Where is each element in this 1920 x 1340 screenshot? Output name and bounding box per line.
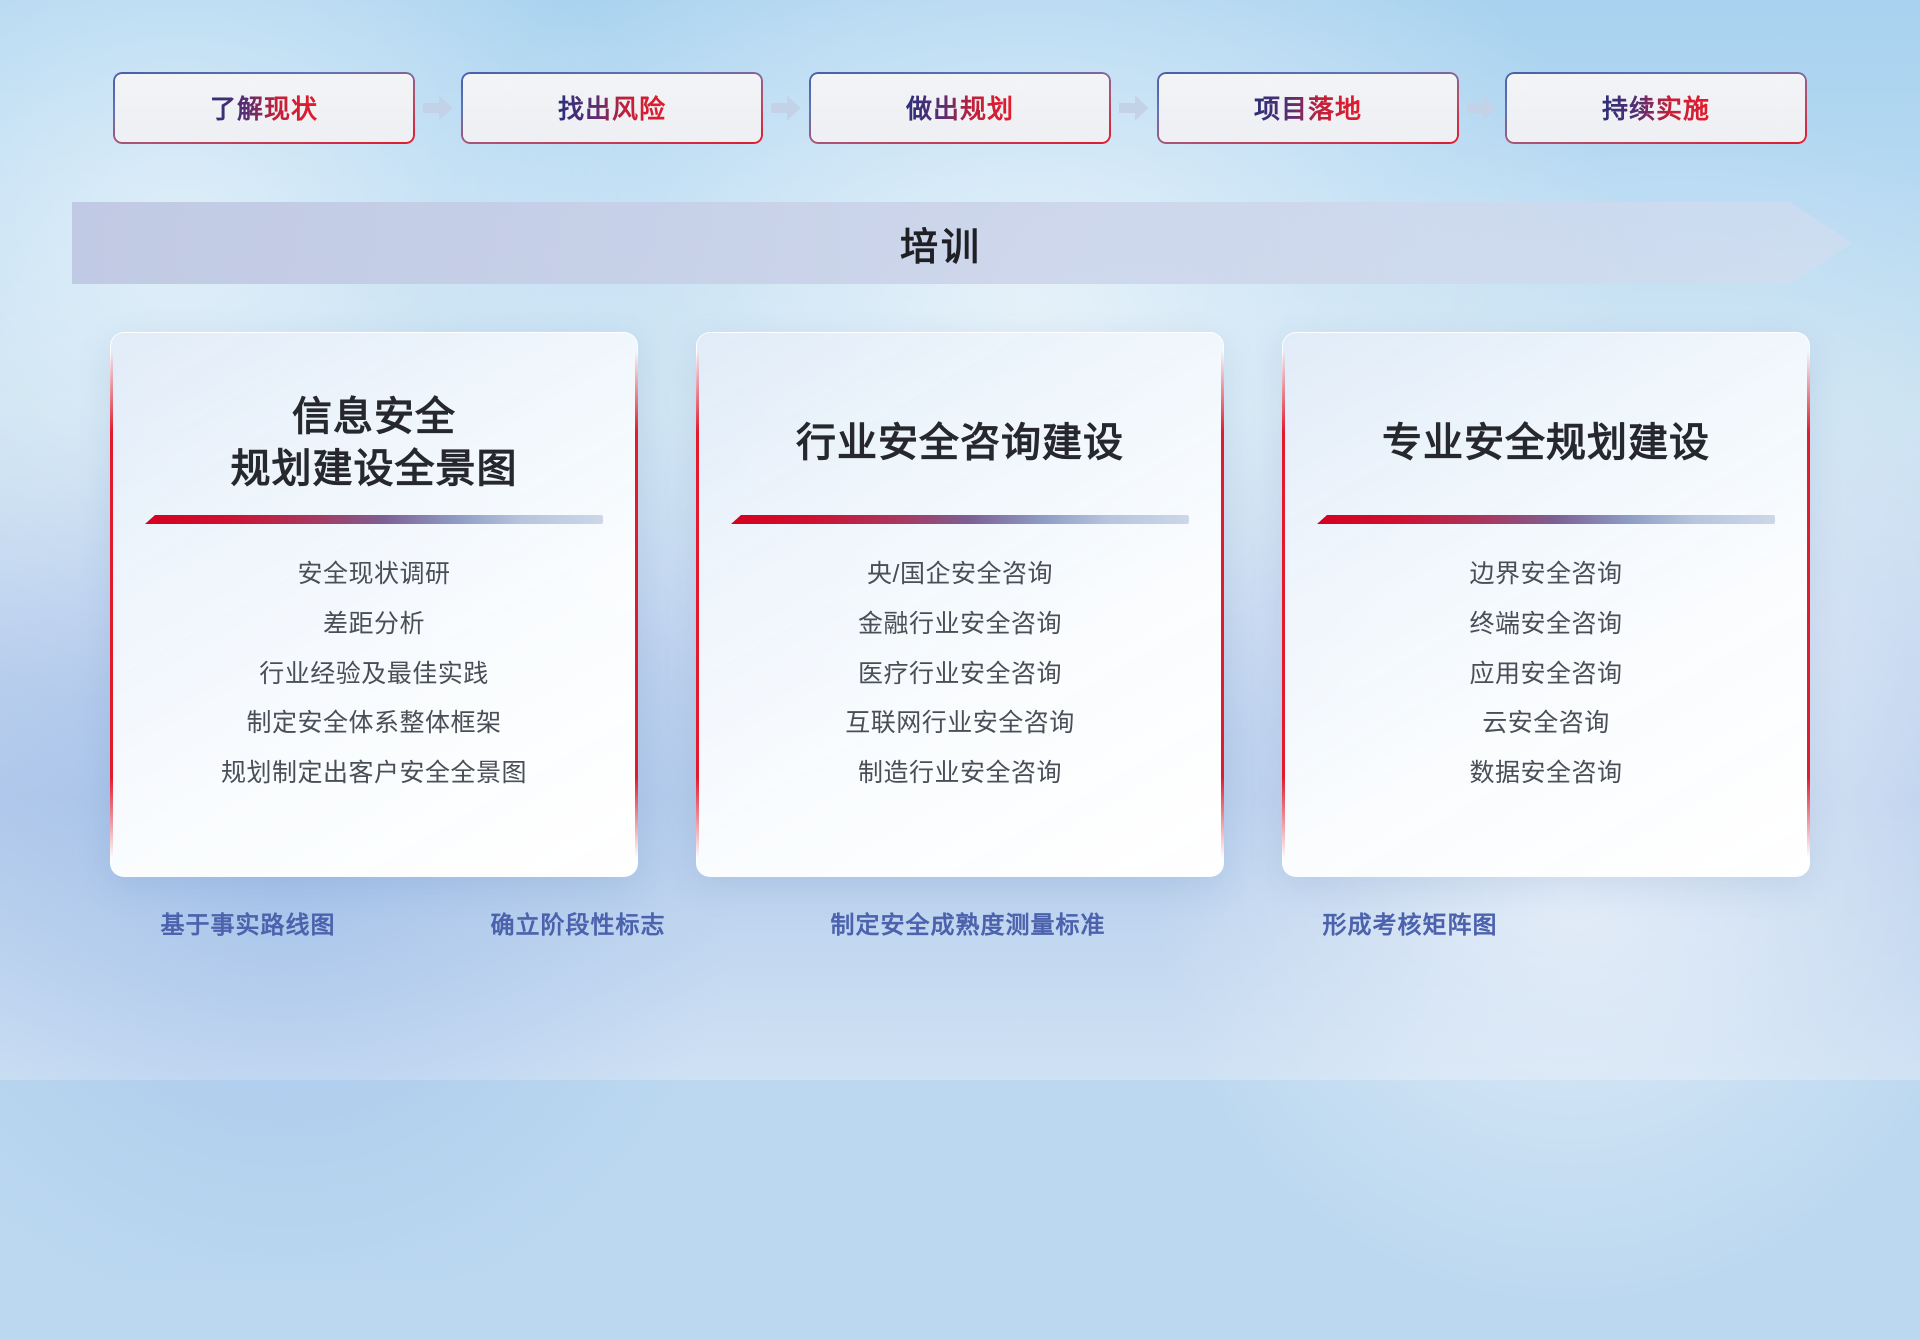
card-list-item[interactable]: 金融行业安全咨询 [858, 608, 1062, 642]
card-accent-left [110, 351, 113, 858]
step-arrow-icon [1459, 72, 1505, 144]
card-accent-right [635, 351, 638, 858]
card-list-item[interactable]: 差距分析 [323, 608, 425, 642]
card-list-item[interactable]: 云安全咨询 [1482, 707, 1610, 741]
footer-label-2: 确立阶段性标志 [491, 905, 666, 940]
process-step-label: 找出风险 [558, 89, 666, 126]
card-divider [145, 515, 603, 524]
card-item-list: 央/国企安全咨询金融行业安全咨询医疗行业安全咨询互联网行业安全咨询制造行业安全咨… [731, 558, 1189, 791]
card-title: 行业安全咨询建设 [731, 389, 1189, 497]
footer-label-3: 制定安全成熟度测量标准 [831, 905, 1106, 940]
training-banner: 培训 [72, 202, 1852, 284]
step-arrow-icon [1111, 72, 1157, 144]
card-title: 信息安全规划建设全景图 [145, 389, 603, 497]
card-list-item[interactable]: 数据安全咨询 [1469, 757, 1622, 791]
card-list-item[interactable]: 央/国企安全咨询 [867, 558, 1053, 592]
step-arrow-icon [763, 72, 809, 144]
card-list-item[interactable]: 制造行业安全咨询 [858, 757, 1062, 791]
card-list-item[interactable]: 医疗行业安全咨询 [858, 658, 1062, 692]
card-list-item[interactable]: 应用安全咨询 [1469, 658, 1622, 692]
process-step-label: 做出规划 [906, 89, 1014, 126]
card-list-item[interactable]: 规划制定出客户安全全景图 [221, 757, 527, 791]
card-list-item[interactable]: 制定安全体系整体框架 [246, 707, 501, 741]
card-title-line: 行业安全咨询建设 [731, 417, 1189, 469]
service-card-1[interactable]: 信息安全规划建设全景图安全现状调研差距分析行业经验及最佳实践制定安全体系整体框架… [110, 332, 638, 877]
process-step-label: 项目落地 [1254, 89, 1362, 126]
card-list-item[interactable]: 终端安全咨询 [1469, 608, 1622, 642]
process-step-row: 了解现状找出风险做出规划项目落地持续实施 [0, 70, 1920, 145]
footer-label-4: 形成考核矩阵图 [1323, 905, 1498, 940]
card-accent-left [696, 351, 699, 858]
card-accent-right [1807, 351, 1810, 858]
process-step-5[interactable]: 持续实施 [1505, 72, 1807, 144]
card-divider [731, 515, 1189, 524]
card-title-line: 规划建设全景图 [145, 443, 603, 495]
card-list-item[interactable]: 互联网行业安全咨询 [845, 707, 1075, 741]
card-list-item[interactable]: 行业经验及最佳实践 [259, 658, 489, 692]
process-step-4[interactable]: 项目落地 [1157, 72, 1459, 144]
training-banner-label: 培训 [72, 202, 1852, 284]
card-accent-right [1221, 351, 1224, 858]
process-step-2[interactable]: 找出风险 [461, 72, 763, 144]
process-step-3[interactable]: 做出规划 [809, 72, 1111, 144]
card-title-line: 专业安全规划建设 [1317, 417, 1775, 469]
process-step-label: 持续实施 [1602, 89, 1710, 126]
process-step-1[interactable]: 了解现状 [113, 72, 415, 144]
service-card-row: 信息安全规划建设全景图安全现状调研差距分析行业经验及最佳实践制定安全体系整体框架… [0, 332, 1920, 872]
service-card-3[interactable]: 专业安全规划建设边界安全咨询终端安全咨询应用安全咨询云安全咨询数据安全咨询 [1282, 332, 1810, 877]
card-list-item[interactable]: 边界安全咨询 [1469, 558, 1622, 592]
card-accent-left [1282, 351, 1285, 858]
card-item-list: 边界安全咨询终端安全咨询应用安全咨询云安全咨询数据安全咨询 [1317, 558, 1775, 791]
process-step-label: 了解现状 [210, 89, 318, 126]
card-title-line: 信息安全 [145, 391, 603, 443]
card-title: 专业安全规划建设 [1317, 389, 1775, 497]
card-list-item[interactable]: 安全现状调研 [297, 558, 450, 592]
service-card-2[interactable]: 行业安全咨询建设央/国企安全咨询金融行业安全咨询医疗行业安全咨询互联网行业安全咨… [696, 332, 1224, 877]
card-item-list: 安全现状调研差距分析行业经验及最佳实践制定安全体系整体框架规划制定出客户安全全景… [145, 558, 603, 791]
footer-label-row: 基于事实路线图确立阶段性标志制定安全成熟度测量标准形成考核矩阵图 [0, 905, 1920, 965]
step-arrow-icon [415, 72, 461, 144]
card-divider [1317, 515, 1775, 524]
footer-label-1: 基于事实路线图 [161, 905, 336, 940]
